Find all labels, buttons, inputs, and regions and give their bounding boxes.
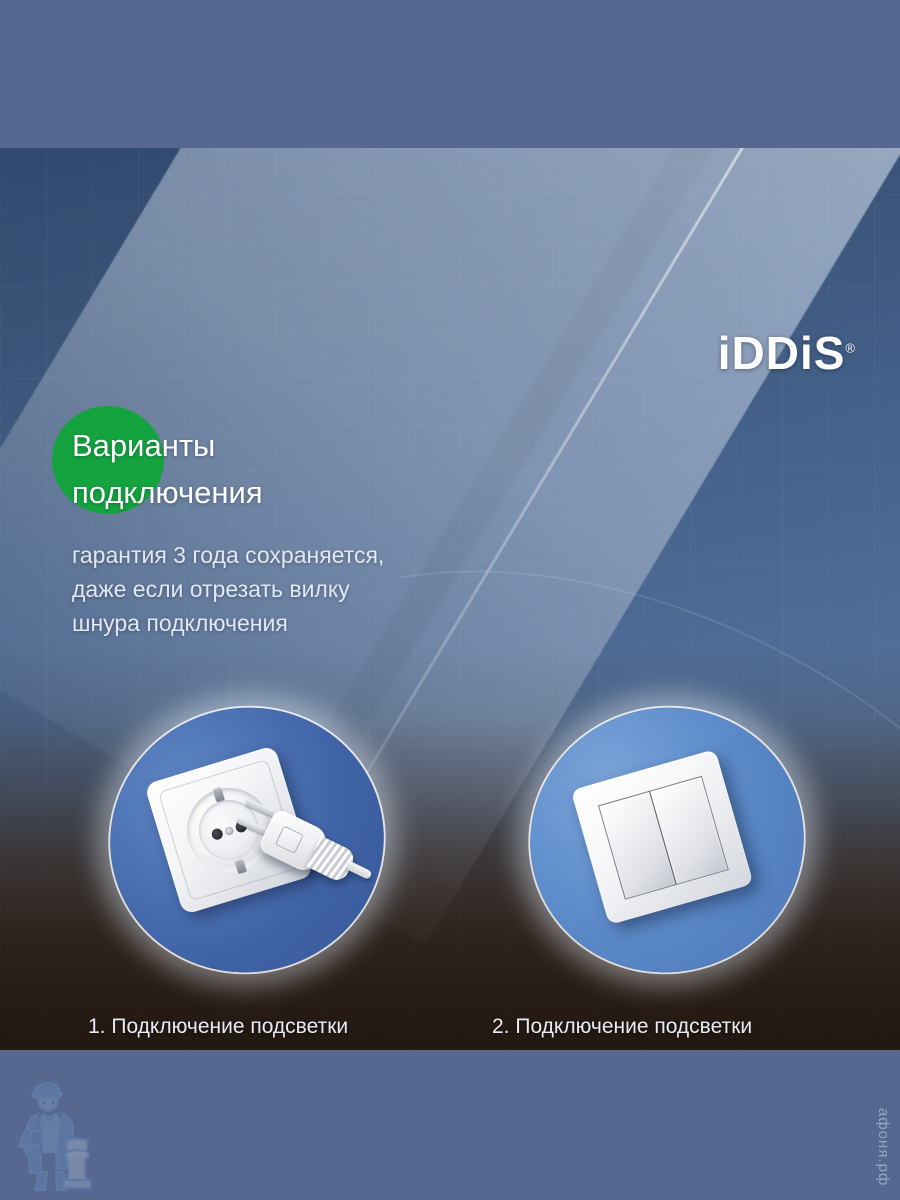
bubble-disc	[80, 676, 415, 1003]
option-1-image	[108, 706, 386, 974]
product-banner-image: iDDiS® Варианты подключения гарантия 3 г…	[0, 148, 900, 1050]
iddis-logo: iDDiS®	[718, 330, 856, 376]
plumber-with-toilet-icon	[8, 1066, 104, 1194]
socket-earth-clip-top	[212, 787, 225, 803]
site-watermark: афоня.рф	[875, 1108, 892, 1186]
option-2-image	[528, 706, 806, 974]
iddis-logo-text: iDDiS	[718, 327, 846, 379]
page-title: Варианты подключения	[72, 422, 592, 516]
option-2-caption: 2. Подключение подсветки через провод	[492, 1010, 852, 1050]
page-subtitle: гарантия 3 года сохраняется, даже если о…	[72, 538, 632, 640]
registered-trademark-icon: ®	[845, 341, 856, 356]
bubble-disc	[500, 676, 835, 1003]
socket-screw	[224, 826, 234, 836]
socket-earth-clip-bottom	[234, 858, 247, 874]
socket-hole-left	[210, 827, 224, 841]
option-1-caption: 1. Подключение подсветки к розетке	[88, 1010, 448, 1050]
poster-canvas: iDDiS® Варианты подключения гарантия 3 г…	[0, 0, 900, 1200]
